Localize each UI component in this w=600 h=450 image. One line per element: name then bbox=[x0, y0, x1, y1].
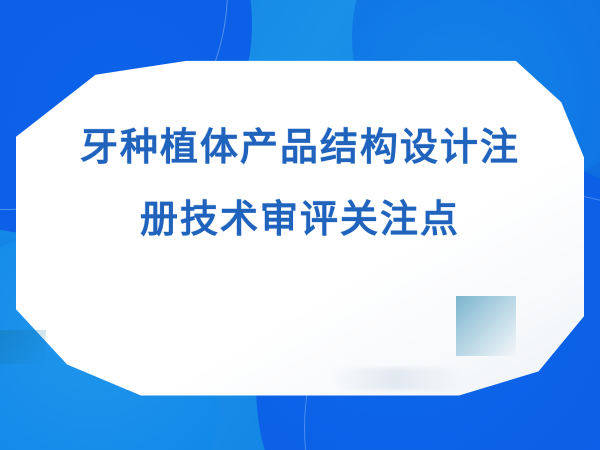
decorative-teal-wedge-right bbox=[456, 296, 516, 356]
decorative-teal-wedge-left bbox=[0, 330, 46, 364]
poster-canvas: 牙种植体产品结构设计注 册技术审评关注点 bbox=[0, 0, 600, 450]
